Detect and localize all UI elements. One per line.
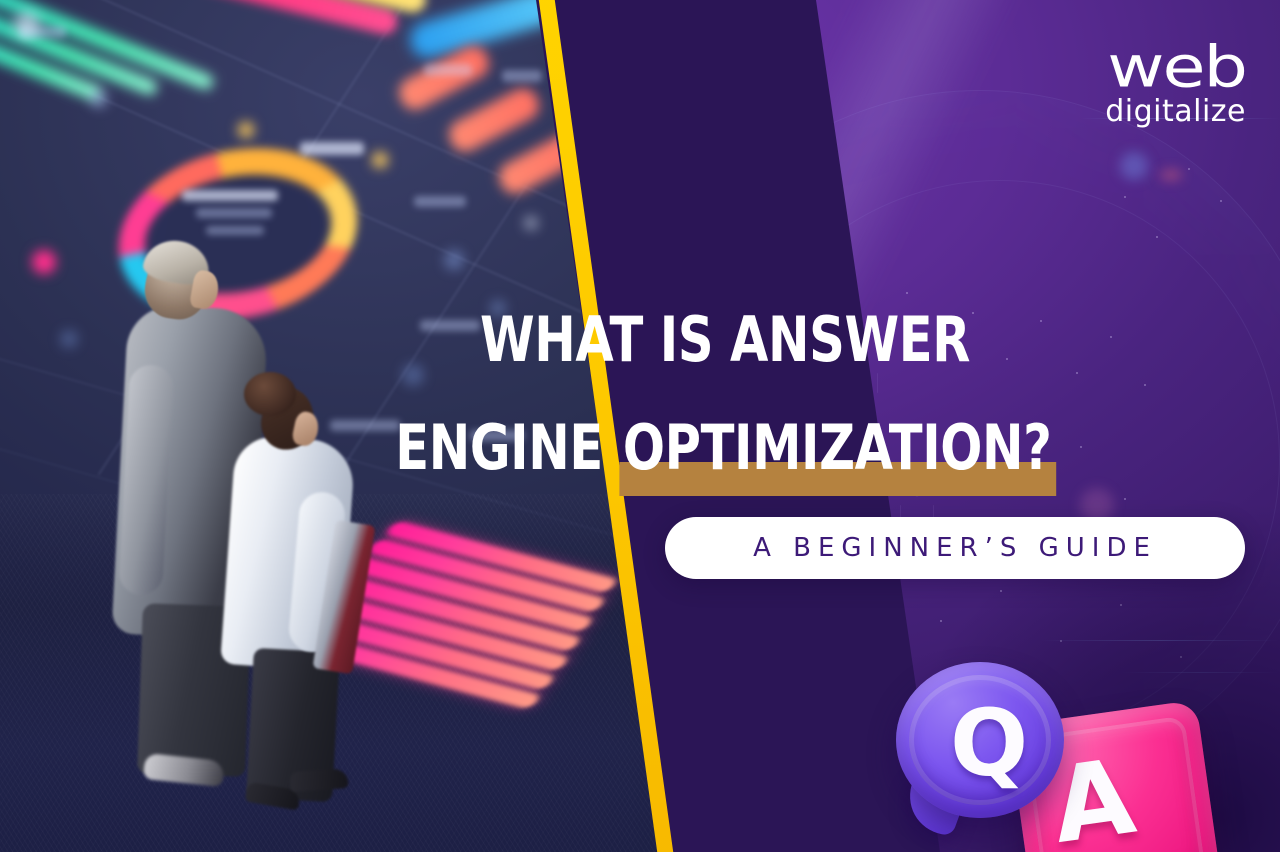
- logo-tagline: digitalize: [1105, 97, 1246, 127]
- kpi-text-3: [424, 64, 472, 76]
- bokeh-dot-4: [14, 12, 40, 38]
- kpi-text-1: [300, 142, 364, 155]
- blog-banner: web digitalize WHAT IS ANSWER ENGINE OPT…: [0, 0, 1280, 852]
- bokeh-dot-6: [444, 250, 464, 270]
- bokeh-dot-3: [32, 250, 56, 274]
- qa-graphic: A Q: [880, 650, 1280, 852]
- headline-highlight: OPTIMIZATION?: [620, 394, 1055, 502]
- question-letter: Q: [950, 698, 1028, 790]
- donut-label-b: [196, 208, 272, 218]
- subtitle-label: A BEGINNER’S GUIDE: [753, 533, 1157, 563]
- bokeh-dot-10: [524, 216, 538, 230]
- woman-heel-right: [289, 768, 348, 792]
- logo-wordmark: web: [1105, 40, 1246, 95]
- brand-logo[interactable]: web digitalize: [1105, 34, 1246, 127]
- page-title: WHAT IS ANSWER ENGINE OPTIMIZATION?: [0, 286, 1280, 502]
- headline-line-1: WHAT IS ANSWER: [281, 286, 1169, 394]
- kpi-text-2: [414, 196, 466, 207]
- headline-line-2-prefix: ENGINE: [395, 411, 619, 484]
- headline-line-2: ENGINE OPTIMIZATION?: [281, 394, 1169, 502]
- bokeh-dot-1: [238, 122, 254, 138]
- question-bubble: Q: [896, 662, 1064, 818]
- subtitle-pill[interactable]: A BEGINNER’S GUIDE: [665, 517, 1245, 579]
- donut-label-c: [206, 226, 264, 235]
- donut-label-a: [182, 190, 278, 201]
- bokeh-dot-5: [90, 90, 108, 108]
- bokeh-dot-2: [372, 152, 388, 168]
- kpi-text-4: [502, 70, 542, 82]
